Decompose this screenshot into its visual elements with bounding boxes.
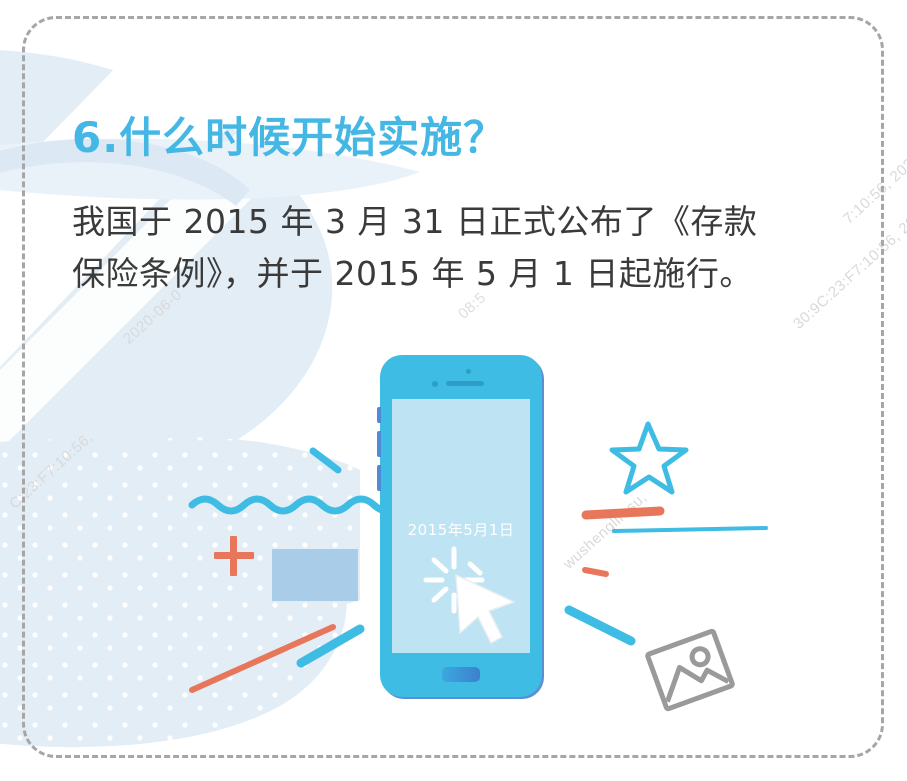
mouse-pointer-icon [456, 575, 514, 643]
infographic-card: 2020-06-0 C:23:F7:10:56, wushenglin.su, … [0, 0, 907, 781]
phone-mockup: 2015年5月1日 [380, 355, 542, 697]
phone-screen[interactable]: 2015年5月1日 [392, 399, 530, 653]
front-camera-dot [432, 381, 438, 387]
envelope-icon [272, 549, 358, 601]
phone-volume-up[interactable] [377, 431, 381, 457]
body-paragraph: 我国于 2015 年 3 月 31 日正式公布了《存款 保险条例》，并于 201… [72, 196, 862, 300]
page-title: 6.什么时候开始实施？ [72, 104, 506, 165]
phone-volume-down[interactable] [377, 465, 381, 491]
phone-home-button[interactable] [442, 667, 480, 682]
body-line-2: 保险条例》，并于 2015 年 5 月 1 日起施行。 [72, 248, 862, 300]
proximity-sensor-dot [466, 369, 471, 374]
earpiece-speaker [446, 381, 484, 386]
body-line-1: 我国于 2015 年 3 月 31 日正式公布了《存款 [72, 196, 862, 248]
phone-mute-switch[interactable] [377, 407, 381, 423]
plus-icon-bar [214, 552, 254, 559]
cursor-group [392, 399, 530, 653]
